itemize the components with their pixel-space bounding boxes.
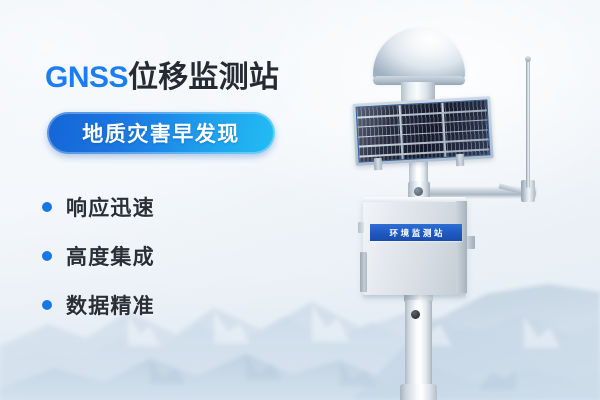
- whip-antenna: [526, 60, 530, 188]
- cross-arm-bolt: [414, 187, 423, 196]
- enclosure-side-panel: [456, 201, 467, 293]
- enclosure-hinge: [358, 222, 364, 233]
- page-title: GNSS位移监测站: [45, 52, 279, 96]
- list-item: 高度集成: [42, 231, 155, 280]
- pole-fitting-bolt: [411, 310, 420, 319]
- tagline-badge: 地质灾害早发现: [47, 112, 275, 154]
- title-brand: GNSS: [45, 61, 128, 94]
- gnss-monitoring-station-illustration: 环境监测站: [330, 0, 600, 400]
- bullet-dot-icon: [42, 251, 52, 261]
- solar-panel-cells: [356, 99, 491, 162]
- list-item: 响应迅速: [42, 182, 155, 231]
- feature-label: 高度集成: [66, 241, 155, 271]
- bullet-dot-icon: [42, 300, 52, 310]
- feature-label: 数据精准: [66, 290, 155, 320]
- enclosure-top-edge: [363, 197, 466, 202]
- bullet-dot-icon: [42, 202, 52, 212]
- solar-panel: [352, 96, 493, 166]
- list-item: 数据精准: [42, 280, 155, 329]
- pole-base: [400, 384, 437, 400]
- enclosure-latch: [467, 236, 475, 249]
- promo-banner: 环境监测站 GNSS位移监测站 地质灾害早发现 响应迅速 高度集成 数据精准: [0, 0, 600, 400]
- feature-label: 响应迅速: [66, 192, 155, 222]
- gnss-antenna-dome-icon: [373, 28, 465, 82]
- enclosure-vent: [360, 252, 367, 292]
- enclosure-label-strip: 环境监测站: [370, 224, 462, 241]
- whip-antenna-tip: [525, 56, 531, 62]
- solar-panel-bracket-right: [456, 154, 465, 166]
- feature-list: 响应迅速 高度集成 数据精准: [42, 182, 155, 329]
- enclosure-label-text: 环境监测站: [387, 227, 445, 239]
- equipment-enclosure: [363, 199, 466, 295]
- title-rest: 位移监测站: [128, 61, 279, 94]
- solar-panel-bracket-left: [374, 158, 383, 170]
- tagline-badge-label: 地质灾害早发现: [82, 118, 240, 148]
